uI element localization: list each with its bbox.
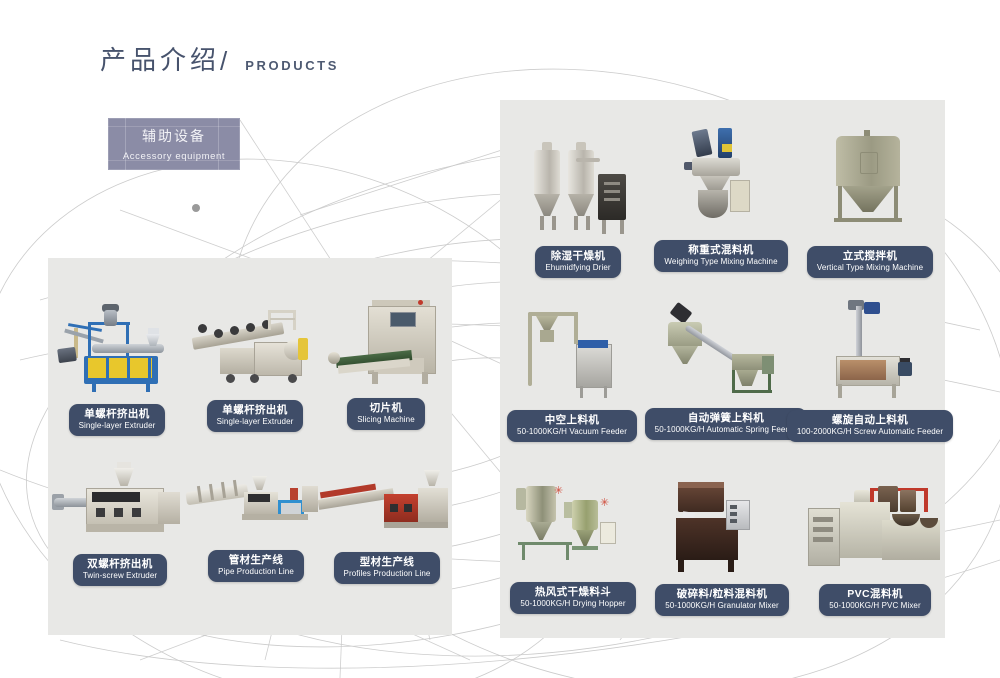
product-label: 热风式干燥料斗 50-1000KG/H Drying Hopper — [510, 582, 635, 614]
product-name-en: Weighing Type Mixing Machine — [664, 257, 777, 266]
machine-image-extruder-conveyor-beige — [192, 300, 318, 392]
product-label: 自动弹簧上料机 50-1000KG/H Automatic Spring Fee… — [645, 408, 808, 440]
product-name-cn: 单螺杆挤出机 — [79, 408, 156, 420]
machine-image-pipe-production-line — [186, 470, 326, 542]
machine-image-vacuum-feeder — [514, 302, 630, 404]
machine-image-profiles-production-line — [318, 468, 456, 544]
product-name-cn: 除湿干燥机 — [545, 250, 610, 262]
product-label: 称重式混料机 Weighing Type Mixing Machine — [654, 240, 787, 272]
product-name-cn: 破碎料/粒料混料机 — [665, 588, 779, 600]
product-name-en: Ehumidfying Drier — [545, 263, 610, 272]
product-card-slicing-machine[interactable]: 切片机 Slicing Machine — [326, 296, 446, 430]
product-card-profiles-production-line[interactable]: 型材生产线 Profiles Production Line — [318, 468, 456, 584]
product-label: 切片机 Slicing Machine — [347, 398, 425, 430]
product-name-en: Vertical Type Mixing Machine — [817, 263, 923, 272]
product-name-cn: 立式搅拌机 — [817, 250, 923, 262]
product-name-en: 50-1000KG/H Automatic Spring Feeder — [655, 425, 798, 434]
product-name-en: Pipe Production Line — [218, 567, 294, 576]
product-label: 单螺杆挤出机 Single-layer Extruder — [207, 400, 304, 432]
product-name-cn: 热风式干燥料斗 — [520, 586, 625, 598]
product-card-granulator-mixer[interactable]: 破碎料/粒料混料机 50-1000KG/H Granulator Mixer — [674, 478, 770, 616]
page-title-en: PRODUCTS — [245, 59, 339, 72]
product-label: 除湿干燥机 Ehumidfying Drier — [535, 246, 620, 278]
machine-image-vertical-mixer — [828, 130, 912, 236]
product-label: 管材生产线 Pipe Production Line — [208, 550, 304, 582]
product-label: 型材生产线 Profiles Production Line — [334, 552, 441, 584]
product-name-cn: 管材生产线 — [218, 554, 294, 566]
product-label: 螺旋自动上料机 100-2000KG/H Screw Automatic Fee… — [787, 410, 953, 442]
product-name-en: Twin-screw Extruder — [83, 571, 157, 580]
product-name-en: Profiles Production Line — [344, 569, 431, 578]
machine-image-granulator-mixer — [674, 478, 770, 578]
product-name-cn: 切片机 — [357, 402, 415, 414]
product-name-cn: 自动弹簧上料机 — [655, 412, 798, 424]
product-label: 中空上料机 50-1000KG/H Vacuum Feeder — [507, 410, 637, 442]
fan-icon: ✳ — [554, 486, 563, 497]
product-card-vacuum-feeder[interactable]: 中空上料机 50-1000KG/H Vacuum Feeder — [514, 302, 630, 442]
product-name-cn: 单螺杆挤出机 — [217, 404, 294, 416]
product-card-pvc-mixer[interactable]: PVC混料机 50-1000KG/H PVC Mixer — [808, 484, 942, 616]
product-card-dehumidifying-drier[interactable]: 除湿干燥机 Ehumidfying Drier — [522, 138, 634, 278]
badge-label-cn: 辅助设备 — [142, 126, 206, 146]
product-card-spring-feeder[interactable]: 自动弹簧上料机 50-1000KG/H Automatic Spring Fee… — [662, 302, 790, 440]
product-card-vertical-mixer[interactable]: 立式搅拌机 Vertical Type Mixing Machine — [828, 130, 912, 278]
product-label: 双螺杆挤出机 Twin-screw Extruder — [73, 554, 167, 586]
product-name-cn: 型材生产线 — [344, 556, 431, 568]
product-name-en: 50-1000KG/H Vacuum Feeder — [517, 427, 627, 436]
product-card-drying-hopper[interactable]: ✳ ✳ 热风式干燥料斗 50-1000KG/H Drying Hopper — [508, 476, 638, 614]
machine-image-weighing-mixer — [678, 126, 764, 234]
product-card-single-layer-extruder-2[interactable]: 单螺杆挤出机 Single-layer Extruder — [192, 300, 318, 432]
accessory-equipment-badge: 辅助设备 Accessory equipment — [108, 118, 240, 170]
machine-image-screw-feeder — [818, 300, 922, 404]
machine-image-spring-feeder — [662, 302, 790, 402]
product-card-twin-screw-extruder[interactable]: 双螺杆挤出机 Twin-screw Extruder — [52, 462, 188, 586]
page-title-slash: / — [220, 48, 227, 74]
product-label: 立式搅拌机 Vertical Type Mixing Machine — [807, 246, 933, 278]
product-name-en: 50-1000KG/H PVC Mixer — [829, 601, 920, 610]
product-name-en: Single-layer Extruder — [217, 417, 294, 426]
product-name-cn: 双螺杆挤出机 — [83, 558, 157, 570]
product-name-en: 50-1000KG/H Drying Hopper — [520, 599, 625, 608]
product-name-cn: 中空上料机 — [517, 414, 627, 426]
node-dot — [192, 204, 200, 212]
product-card-single-layer-extruder-1[interactable]: 单螺杆挤出机 Single-layer Extruder — [58, 300, 176, 436]
product-name-en: Slicing Machine — [357, 415, 415, 424]
product-name-cn: 螺旋自动上料机 — [797, 414, 943, 426]
machine-image-slicing-machine — [326, 296, 446, 394]
product-name-cn: PVC混料机 — [829, 588, 920, 600]
product-card-weighing-mixer[interactable]: 称重式混料机 Weighing Type Mixing Machine — [678, 126, 764, 272]
page-title-cn: 产品介绍 — [100, 48, 220, 74]
product-label: PVC混料机 50-1000KG/H PVC Mixer — [819, 584, 930, 616]
product-card-pipe-production-line[interactable]: 管材生产线 Pipe Production Line — [186, 470, 326, 582]
machine-image-pvc-mixer — [808, 484, 942, 578]
product-card-screw-feeder[interactable]: 螺旋自动上料机 100-2000KG/H Screw Automatic Fee… — [818, 300, 922, 442]
machine-image-drying-hopper: ✳ ✳ — [508, 476, 638, 576]
fan-icon: ✳ — [600, 498, 609, 509]
machine-image-extruder-blue-yellow — [58, 300, 176, 396]
machine-image-dehumidifying-drier — [522, 138, 634, 238]
product-name-cn: 称重式混料机 — [664, 244, 777, 256]
product-name-en: 100-2000KG/H Screw Automatic Feeder — [797, 427, 943, 436]
product-label: 破碎料/粒料混料机 50-1000KG/H Granulator Mixer — [655, 584, 789, 616]
product-name-en: 50-1000KG/H Granulator Mixer — [665, 601, 779, 610]
product-label: 单螺杆挤出机 Single-layer Extruder — [69, 404, 166, 436]
product-name-en: Single-layer Extruder — [79, 421, 156, 430]
page-title: 产品介绍 / PRODUCTS — [100, 48, 339, 74]
badge-label-en: Accessory equipment — [123, 151, 225, 162]
machine-image-twin-screw-extruder — [52, 462, 188, 546]
page-canvas: 产品介绍 / PRODUCTS 辅助设备 Accessory equipment… — [0, 0, 1000, 678]
